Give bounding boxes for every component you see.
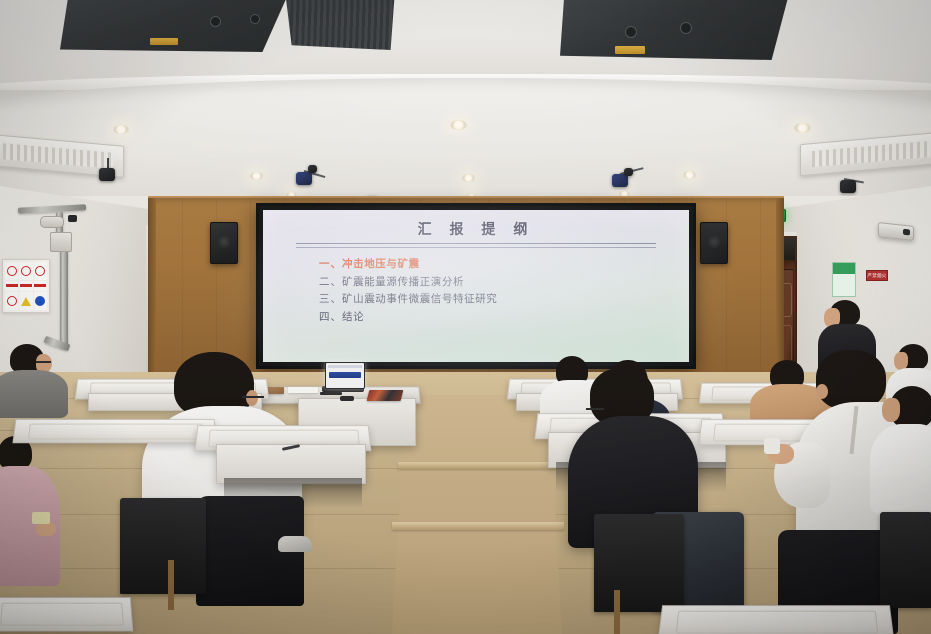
desk-row3-right: [658, 605, 894, 634]
fire-safety-poster: [832, 262, 856, 297]
slide-item-3-num: 三、: [319, 293, 342, 305]
podium-cables: [320, 392, 342, 395]
slide-item-1-num: 一、: [319, 258, 342, 270]
downlight: [113, 125, 129, 134]
ceiling-vent-left: [150, 38, 178, 45]
slide-item-4-text: 结论: [342, 311, 364, 323]
chair-left-leg: [168, 560, 174, 610]
person-left-1-glasses: [36, 361, 51, 363]
podium-microphone: [340, 396, 354, 401]
person-left-2-phone: [32, 512, 50, 524]
person-right-2-head: [816, 350, 886, 410]
downlight: [462, 174, 475, 182]
person-right-3-body: [870, 424, 931, 514]
podium-magazine: [367, 390, 404, 401]
no-fire-poster: 严禁烟火: [866, 270, 888, 281]
wood-edge-right: [776, 198, 784, 376]
slide-item-1-text: 冲击地压与矿震: [342, 258, 420, 270]
ceiling-grille-panel: [285, 0, 395, 50]
slide-item-2-text: 矿震能量源传播正演分析: [342, 276, 464, 288]
projection-screen: 汇 报 提 纲 一、冲击地压与矿震 二、矿震能量源传播正演分析 三、矿山震动事件…: [263, 210, 689, 362]
slide-item-1: 一、冲击地压与矿震: [319, 256, 669, 274]
person-right-2-ear: [816, 384, 828, 399]
chair-mid-right-leg: [614, 590, 620, 634]
person-mid-3-glasses: [586, 408, 604, 410]
stage-step-1: [398, 462, 556, 469]
slide-item-2-num: 二、: [319, 276, 342, 288]
projection-screen-frame: 汇 报 提 纲 一、冲击地压与矿震 二、矿震能量源传播正演分析 三、矿山震动事件…: [256, 203, 696, 369]
slide-item-3: 三、矿山震动事件微震信号特征研究: [319, 291, 669, 309]
person-left-1-body: [0, 370, 68, 418]
safety-sign-board: [2, 259, 50, 313]
pipe-sensor-box: [40, 216, 64, 228]
pipe-junction-box: [50, 232, 72, 252]
ceiling-soffit: [0, 78, 931, 213]
slide-title: 汇 报 提 纲: [263, 219, 689, 239]
desk-row3-left: [0, 597, 133, 631]
person-left-3-ear: [246, 390, 258, 406]
laptop-screen[interactable]: [325, 362, 365, 389]
ceiling-dark-panel-right: [560, 0, 790, 60]
downlight: [450, 120, 467, 130]
desk-row2-left: [12, 419, 217, 443]
lecture-hall-photo: 报告厅 安全出口 严禁烟火 汇 报 提 纲: [0, 0, 931, 634]
slide-item-4: 四、结论: [319, 309, 669, 327]
speaker-left: [210, 222, 238, 264]
downlight: [250, 172, 263, 180]
slide-item-3-text: 矿山震动事件微震信号特征研究: [342, 293, 497, 305]
person-right-3-face: [882, 398, 900, 422]
person-left-3-glasses: [242, 396, 264, 398]
podium-papers: [288, 387, 318, 393]
slide-outline-list: 一、冲击地压与矿震 二、矿震能量源传播正演分析 三、矿山震动事件微震信号特征研究…: [319, 256, 669, 326]
wood-edge-left: [148, 198, 156, 376]
person-left-3-shoe: [278, 536, 312, 552]
wall-pipe-main: [60, 238, 68, 348]
slide-item-2: 二、矿震能量源传播正演分析: [319, 274, 669, 292]
chair-right[interactable]: [880, 512, 931, 608]
chair-left[interactable]: [120, 498, 206, 594]
ceiling-vent-right: [615, 46, 645, 54]
person-left-2-hand: [36, 522, 56, 536]
speaker-right: [700, 222, 728, 264]
downlight: [794, 123, 811, 133]
chair-mid-right[interactable]: [594, 514, 684, 612]
wall-camera: [68, 215, 77, 222]
person-right-2-cup: [764, 438, 780, 454]
slide-item-4-num: 四、: [319, 311, 342, 323]
slide-title-rule: [296, 243, 656, 248]
downlight: [683, 171, 696, 179]
stage-step-2: [392, 522, 564, 530]
